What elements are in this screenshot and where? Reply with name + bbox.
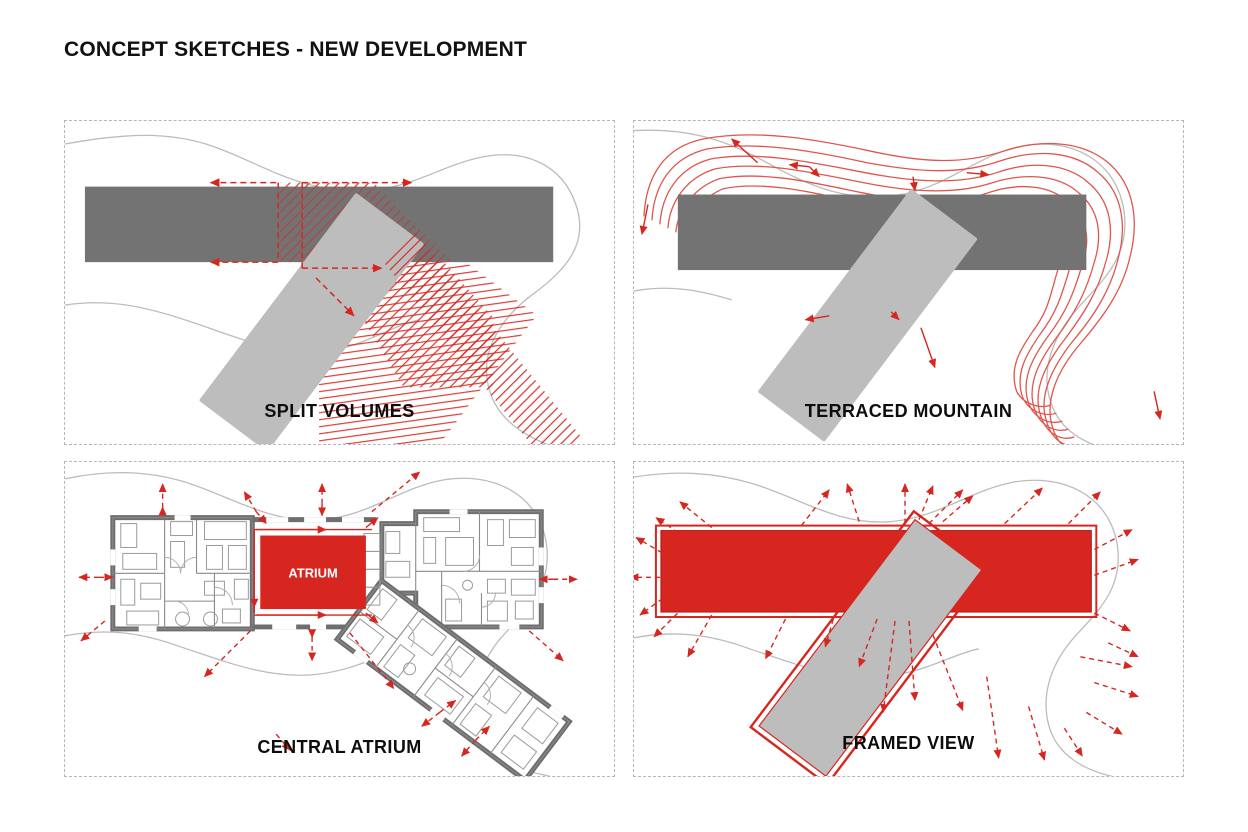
panel-framed-view[interactable]: FRAMED VIEW [633, 461, 1184, 777]
panel-terraced-mountain[interactable]: TERRACED MOUNTAIN [633, 120, 1184, 445]
terraced-mountain-drawing [634, 121, 1183, 444]
atrium-label: ATRIUM [288, 565, 337, 580]
plan-left-wing [113, 518, 252, 629]
framed-view-drawing [634, 462, 1183, 776]
split-volumes-drawing [65, 121, 614, 444]
page-title: CONCEPT SKETCHES - NEW DEVELOPMENT [64, 38, 527, 62]
concept-sheet: CONCEPT SKETCHES - NEW DEVELOPMENT [0, 0, 1248, 832]
panel-split-volumes[interactable]: SPLIT VOLUMES [64, 120, 615, 445]
atrium-block: ATRIUM [254, 518, 378, 623]
panel-grid: SPLIT VOLUMES [64, 120, 1184, 786]
panel-central-atrium[interactable]: ATRIUM [64, 461, 615, 777]
central-atrium-drawing: ATRIUM [65, 462, 614, 776]
